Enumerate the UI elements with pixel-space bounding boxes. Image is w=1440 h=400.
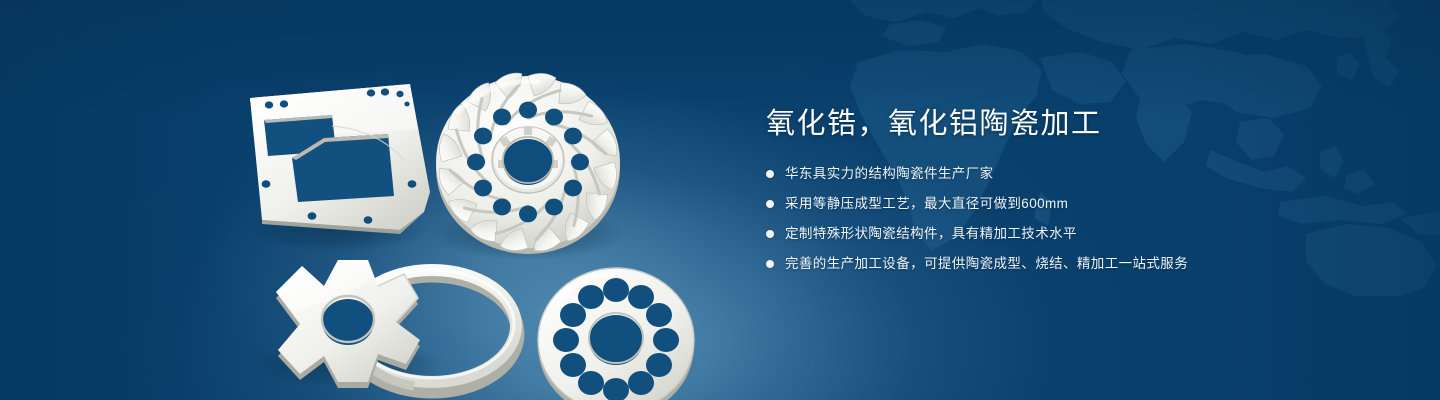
ceramic-products-image — [228, 34, 708, 394]
feature-list: 华东具实力的结构陶瓷件生产厂家 采用等静压成型工艺，最大直径可做到600mm 定… — [766, 164, 1386, 274]
page-title: 氧化锆，氧化铝陶瓷加工 — [766, 104, 1386, 144]
list-item: 采用等静压成型工艺，最大直径可做到600mm — [766, 194, 1386, 214]
list-item-label: 采用等静压成型工艺，最大直径可做到600mm — [785, 194, 1068, 214]
list-item-label: 完善的生产加工设备，可提供陶瓷成型、烧结、精加工一站式服务 — [785, 254, 1188, 274]
bullet-dot-icon — [766, 260, 774, 268]
list-item-label: 华东具实力的结构陶瓷件生产厂家 — [785, 164, 994, 184]
list-item-label: 定制特殊形状陶瓷结构件，具有精加工技术水平 — [785, 224, 1077, 244]
ceramic-perforated-disc-shape — [538, 268, 694, 400]
hero-banner: 氧化锆，氧化铝陶瓷加工 华东具实力的结构陶瓷件生产厂家 采用等静压成型工艺，最大… — [0, 0, 1440, 400]
list-item: 华东具实力的结构陶瓷件生产厂家 — [766, 164, 1386, 184]
bullet-dot-icon — [766, 170, 774, 178]
bullet-dot-icon — [766, 200, 774, 208]
bullet-dot-icon — [766, 230, 774, 238]
list-item: 定制特殊形状陶瓷结构件，具有精加工技术水平 — [766, 224, 1386, 244]
ceramic-impeller-wheel-shape — [435, 69, 620, 254]
ceramic-machined-plate-shape — [250, 84, 430, 234]
list-item: 完善的生产加工设备，可提供陶瓷成型、烧结、精加工一站式服务 — [766, 254, 1386, 274]
banner-copy: 氧化锆，氧化铝陶瓷加工 华东具实力的结构陶瓷件生产厂家 采用等静压成型工艺，最大… — [766, 104, 1386, 284]
